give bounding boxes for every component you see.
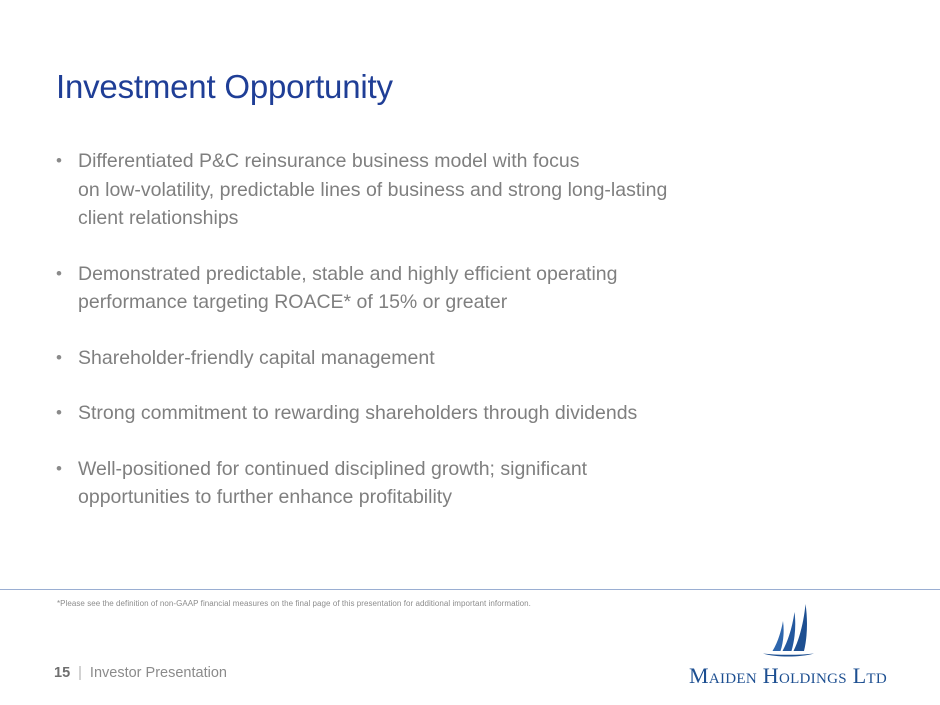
bullet-point-icon: • [56,147,78,176]
bullet-point-icon: • [56,344,78,373]
list-item-text: Shareholder-friendly capital management [78,344,856,373]
bullet-point-icon: • [56,260,78,289]
company-logo: Maiden Holdings Ltd [676,602,900,686]
logo-wordmark: Maiden Holdings Ltd [676,664,900,688]
footer-label: Investor Presentation [90,665,227,681]
list-item-text: Strong commitment to rewarding sharehold… [78,399,856,428]
footer-divider [0,589,940,590]
list-item: • Shareholder-friendly capital managemen… [56,344,856,373]
list-item-text: Well-positioned for continued discipline… [78,455,856,512]
page-number: 15 [54,665,70,681]
footer-separator: | [78,665,82,681]
page-title: Investment Opportunity [56,68,393,106]
sailboat-icon [748,602,828,664]
list-item: • Differentiated P&C reinsurance busines… [56,147,856,233]
footnote-text: *Please see the definition of non-GAAP f… [57,598,531,610]
list-item: • Well-positioned for continued discipli… [56,455,856,512]
bullet-point-icon: • [56,399,78,428]
list-item-text: Differentiated P&C reinsurance business … [78,147,856,233]
list-item: • Strong commitment to rewarding shareho… [56,399,856,428]
page-footer: 15 | Investor Presentation [54,665,227,681]
presentation-slide: Investment Opportunity • Differentiated … [0,0,940,705]
bullet-list: • Differentiated P&C reinsurance busines… [56,147,856,512]
bullet-point-icon: • [56,455,78,484]
list-item: • Demonstrated predictable, stable and h… [56,260,856,317]
list-item-text: Demonstrated predictable, stable and hig… [78,260,856,317]
